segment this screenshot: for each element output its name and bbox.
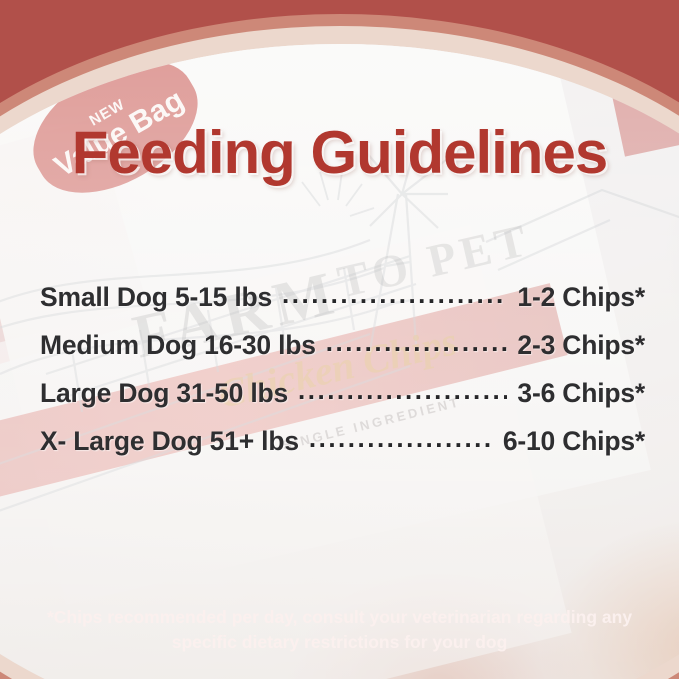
- row-label: X- Large Dog 51+ lbs: [40, 426, 299, 457]
- footnote: *Chips recommended per day, consult your…: [0, 605, 679, 655]
- row-label: Medium Dog 16-30 lbs: [40, 330, 316, 361]
- dot-leader: ........................................…: [309, 423, 493, 454]
- content-layer: Feeding Guidelines Small Dog 5-15 lbs ..…: [0, 0, 679, 679]
- dot-leader: ........................................…: [282, 279, 507, 310]
- dot-leader: ........................................…: [326, 327, 508, 358]
- row-amount: 6-10 Chips*: [503, 426, 645, 457]
- row-label: Large Dog 31-50 lbs: [40, 378, 288, 409]
- table-row: Large Dog 31-50 lbs ....................…: [40, 378, 645, 426]
- feeding-guidelines-card: FARM TO PET Chicken Chips SINGLE INGREDI…: [0, 0, 679, 679]
- footnote-line-2: dietary restrictions for your dog: [242, 632, 507, 652]
- row-amount: 2-3 Chips*: [517, 330, 645, 361]
- table-row: X- Large Dog 51+ lbs ...................…: [40, 426, 645, 474]
- row-amount: 3-6 Chips*: [517, 378, 645, 409]
- dot-leader: ........................................…: [298, 375, 507, 406]
- page-title: Feeding Guidelines: [0, 118, 679, 187]
- table-row: Medium Dog 16-30 lbs ...................…: [40, 330, 645, 378]
- feeding-table: Small Dog 5-15 lbs .....................…: [40, 282, 645, 474]
- row-amount: 1-2 Chips*: [517, 282, 645, 313]
- row-label: Small Dog 5-15 lbs: [40, 282, 272, 313]
- table-row: Small Dog 5-15 lbs .....................…: [40, 282, 645, 330]
